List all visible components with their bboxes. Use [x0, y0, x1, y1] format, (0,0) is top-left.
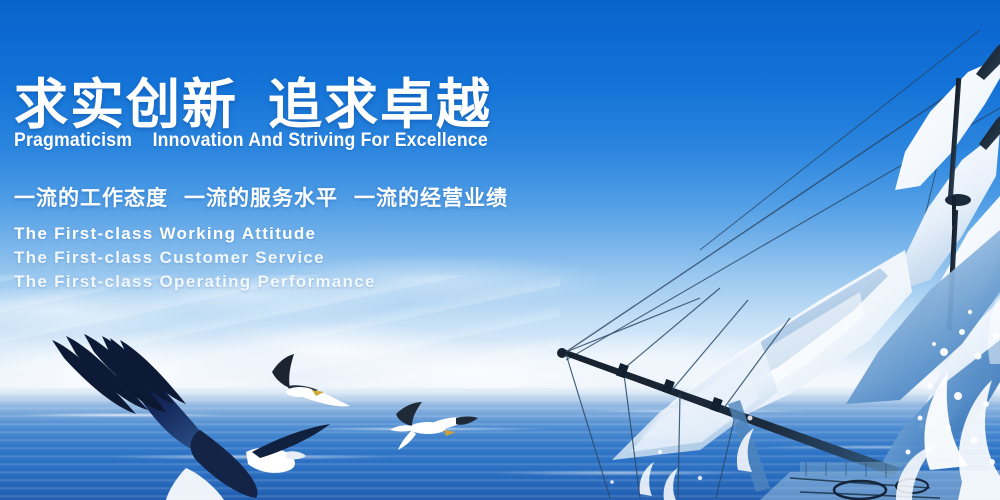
subhead-part1: 一流的工作态度: [14, 187, 168, 210]
subheading: 一流的工作态度一流的服务水平一流的经营业绩: [14, 182, 508, 212]
promotional-banner: 求实创新追求卓越 PragmaticismInnovation And Stri…: [0, 0, 1000, 500]
text-block: 求实创新追求卓越 PragmaticismInnovation And Stri…: [0, 0, 600, 500]
english-slogan-line: The First-class Working Attitude: [14, 222, 376, 246]
headline-part1: 求实创新: [14, 75, 238, 135]
headline-part2: 追求卓越: [268, 75, 492, 135]
tagline-part2: Innovation And Striving For Excellence: [153, 130, 488, 151]
english-slogan-line: The First-class Customer Service: [14, 246, 376, 270]
tagline: PragmaticismInnovation And Striving For …: [14, 130, 488, 152]
page-title: 求实创新追求卓越: [14, 60, 492, 139]
english-slogan-line: The First-class Operating Performance: [14, 270, 376, 294]
subhead-part3: 一流的经营业绩: [354, 187, 508, 210]
english-slogan-list: The First-class Working Attitude The Fir…: [14, 222, 376, 294]
subhead-part2: 一流的服务水平: [184, 187, 338, 210]
tagline-part1: Pragmaticism: [14, 130, 132, 151]
